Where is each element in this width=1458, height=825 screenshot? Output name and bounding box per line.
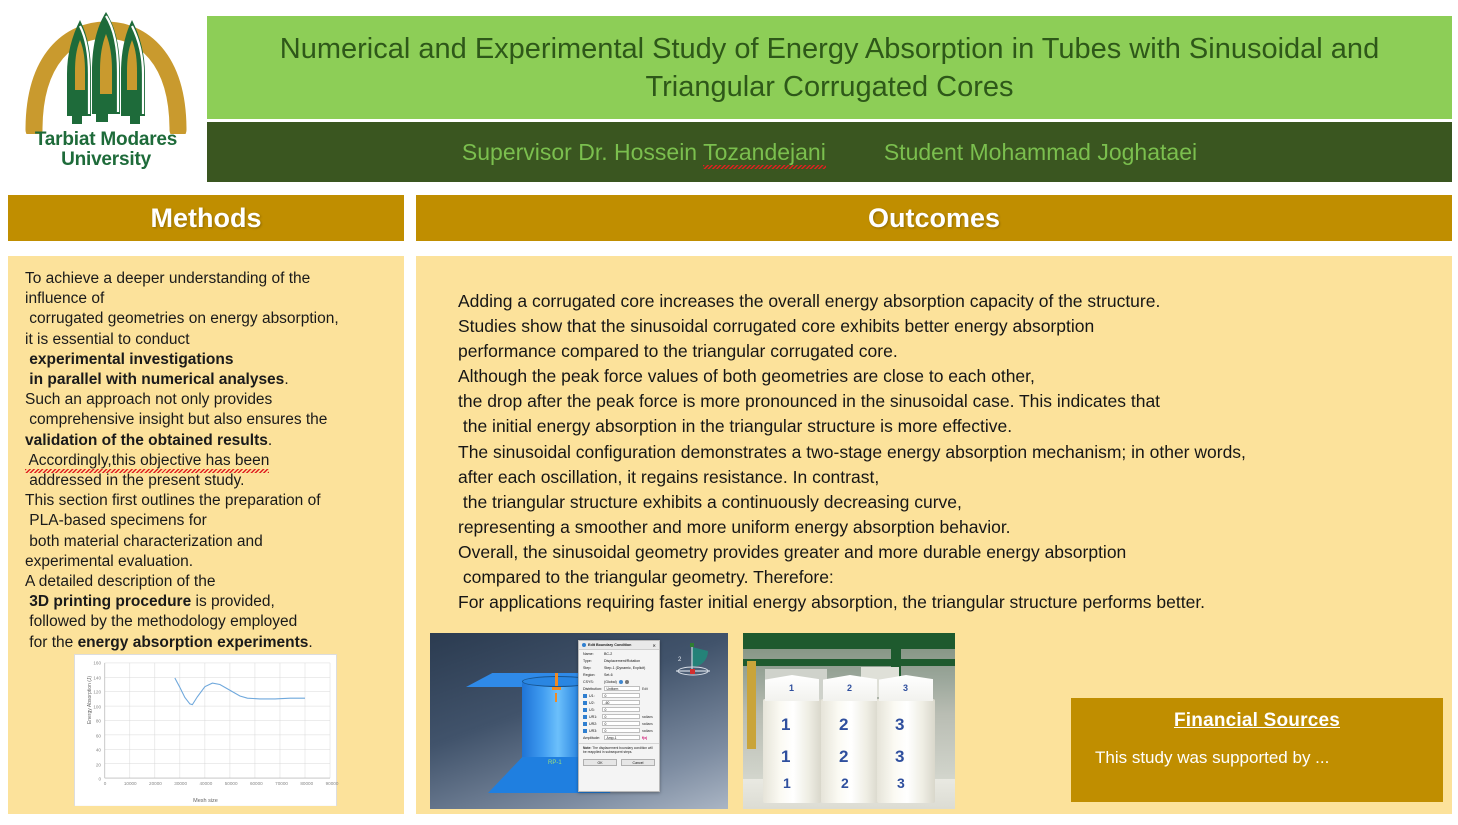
outcomes-line: compared to the triangular geometry. The… bbox=[458, 565, 1438, 590]
note-label: Note: bbox=[583, 746, 591, 750]
university-logo-icon bbox=[22, 10, 190, 134]
authors-banner: Supervisor Dr. Hossein Tozandejani Stude… bbox=[207, 122, 1452, 182]
dialog-field-row: Step:Step-1 (Dynamic, Explicit) bbox=[579, 664, 659, 671]
chart-x-tick: 60000 bbox=[250, 781, 263, 786]
university-logo-area: Tarbiat Modares University bbox=[8, 4, 204, 184]
methods-line: in parallel with numerical analyses. bbox=[25, 370, 390, 390]
field-label: Type: bbox=[583, 659, 602, 663]
methods-body-text: To achieve a deeper understanding of the… bbox=[25, 269, 390, 653]
csys-label: CSYS: bbox=[583, 680, 602, 684]
methods-panel: To achieve a deeper understanding of the… bbox=[8, 256, 404, 814]
specimen-tag-number: 1 bbox=[789, 683, 794, 693]
chart-x-tick: 50000 bbox=[225, 781, 238, 786]
supervisor-credit: Supervisor Dr. Hossein Tozandejani bbox=[462, 139, 826, 166]
csys-value: (Global) bbox=[604, 680, 617, 684]
chart-y-tick: 140 bbox=[93, 675, 101, 680]
outcomes-line: after each oscillation, it regains resis… bbox=[458, 465, 1438, 490]
supervisor-label: Supervisor Dr. Hossein bbox=[462, 139, 703, 165]
chart-y-tick: 20 bbox=[96, 762, 101, 767]
outcomes-line: Studies show that the sinusoidal corruga… bbox=[458, 314, 1438, 339]
specimen-marking: 3 bbox=[895, 747, 904, 767]
dialog-titlebar: Edit Boundary Condition ✕ bbox=[579, 641, 659, 650]
dof-label: U1: bbox=[589, 694, 600, 698]
chart-y-tick: 120 bbox=[93, 690, 101, 695]
close-icon[interactable]: ✕ bbox=[652, 643, 656, 648]
field-value: Step-1 (Dynamic, Explicit) bbox=[604, 666, 645, 670]
distribution-select[interactable]: Uniform bbox=[604, 686, 640, 691]
amplitude-label: Amplitude: bbox=[583, 736, 602, 740]
specimen-photo-figure: 111122223333 bbox=[743, 633, 955, 809]
cad-load-arrow-head bbox=[552, 687, 561, 690]
methods-line: 3D printing procedure is provided, bbox=[25, 592, 390, 612]
university-name-line2: University bbox=[8, 150, 204, 170]
dof-input[interactable]: 0 bbox=[602, 721, 640, 726]
outcomes-panel: Adding a corrugated core increases the o… bbox=[416, 256, 1452, 814]
poster-title-banner: Numerical and Experimental Study of Ener… bbox=[207, 16, 1452, 119]
methods-line: comprehensive insight but also ensures t… bbox=[25, 410, 390, 430]
financial-sources-title: Financial Sources bbox=[1071, 698, 1443, 732]
dof-label: UR1: bbox=[589, 715, 600, 719]
chart-x-tick: 10000 bbox=[124, 781, 137, 786]
photo-machine-frame-top bbox=[743, 633, 955, 649]
field-label: Region: bbox=[583, 673, 602, 677]
outcomes-line: the drop after the peak force is more pr… bbox=[458, 389, 1438, 414]
dof-input[interactable]: 0 bbox=[602, 714, 640, 719]
outcomes-line: Overall, the sinusoidal geometry provide… bbox=[458, 540, 1438, 565]
methods-line: addressed in the present study. bbox=[25, 471, 390, 491]
svg-text:2: 2 bbox=[678, 657, 682, 663]
methods-line: validation of the obtained results. bbox=[25, 431, 390, 451]
field-label: Name: bbox=[583, 652, 602, 656]
chart-x-tick: 90000 bbox=[326, 781, 339, 786]
chart-y-tick: 160 bbox=[93, 661, 101, 666]
university-name-line1: Tarbiat Modares bbox=[8, 130, 204, 150]
specimen-paper-tag: 1 bbox=[765, 675, 819, 701]
dof-checkbox[interactable] bbox=[583, 715, 587, 719]
specimen-cylinder: 333 bbox=[877, 699, 935, 803]
amplitude-row[interactable]: Amplitude: Amp-1 f(x) bbox=[579, 734, 659, 741]
dof-row[interactable]: UR1:0radians bbox=[579, 713, 659, 720]
dof-row[interactable]: U3:0 bbox=[579, 706, 659, 713]
outcomes-line: Adding a corrugated core increases the o… bbox=[458, 289, 1438, 314]
amplitude-select[interactable]: Amp-1 bbox=[604, 735, 640, 740]
field-value: BC-2 bbox=[604, 652, 612, 656]
research-poster: Tarbiat Modares University Numerical and… bbox=[0, 0, 1458, 825]
methods-line: Such an approach not only provides bbox=[25, 390, 390, 410]
student-credit: Student Mohammad Joghataei bbox=[884, 139, 1197, 166]
cad-load-arrow-shaft bbox=[555, 673, 558, 686]
financial-sources-box: Financial Sources This study was support… bbox=[1071, 698, 1443, 802]
methods-line: for the energy absorption experiments. bbox=[25, 633, 390, 653]
poster-header-band: Tarbiat Modares University Numerical and… bbox=[0, 0, 1458, 186]
cad-reference-point-label: RP-1 bbox=[548, 760, 562, 766]
dialog-field-list: Name:BC-2Type:Displacement/RotationStep:… bbox=[579, 650, 659, 678]
dof-unit: radians bbox=[642, 722, 655, 726]
csys-edit-icon[interactable] bbox=[619, 680, 623, 684]
specimen-marking: 2 bbox=[841, 775, 849, 791]
specimen-marking: 2 bbox=[839, 715, 848, 735]
dof-input[interactable]: 0 bbox=[602, 728, 640, 733]
specimen-paper-tag: 3 bbox=[879, 675, 933, 701]
dof-row[interactable]: UR3:0radians bbox=[579, 727, 659, 734]
field-value: Set-6 bbox=[604, 673, 613, 677]
chart-y-tick: 100 bbox=[93, 704, 101, 709]
methods-line: A detailed description of the bbox=[25, 572, 390, 592]
methods-line: PLA-based specimens for bbox=[25, 511, 390, 531]
dof-input[interactable]: 0 bbox=[602, 693, 640, 698]
cancel-button[interactable]: Cancel bbox=[621, 759, 655, 766]
dof-label: U3: bbox=[589, 708, 600, 712]
methods-line: To achieve a deeper understanding of the bbox=[25, 269, 390, 289]
dof-unit: radians bbox=[642, 715, 655, 719]
chart-x-tick: 20000 bbox=[149, 781, 162, 786]
abaqus-screenshot-figure: RP-1 2 Edit Boundary Condition ✕ Name:BC… bbox=[430, 633, 728, 809]
dof-row[interactable]: U2:-60 bbox=[579, 699, 659, 706]
specimen-marking: 1 bbox=[781, 747, 790, 767]
outcomes-body-text: Adding a corrugated core increases the o… bbox=[458, 289, 1438, 615]
methods-line: both material characterization and bbox=[25, 532, 390, 552]
dof-checkbox[interactable] bbox=[583, 729, 587, 733]
methods-line: it is essential to conduct bbox=[25, 330, 390, 350]
distribution-label: Distribution: bbox=[583, 687, 602, 691]
edit-boundary-condition-dialog[interactable]: Edit Boundary Condition ✕ Name:BC-2Type:… bbox=[578, 640, 660, 792]
methods-line: This section first outlines the preparat… bbox=[25, 491, 390, 511]
chart-x-tick: 80000 bbox=[300, 781, 313, 786]
supervisor-name: Tozandejani bbox=[703, 139, 826, 165]
chart-x-axis-title: Mesh size bbox=[75, 798, 336, 804]
dof-checkbox[interactable] bbox=[583, 694, 587, 698]
dialog-buttons: OK Cancel bbox=[579, 757, 659, 769]
specimen-marking: 1 bbox=[783, 775, 791, 791]
outcomes-line: the triangular structure exhibits a cont… bbox=[458, 490, 1438, 515]
specimen-marking: 1 bbox=[781, 715, 790, 735]
dof-label: UR3: bbox=[589, 729, 600, 733]
cad-view-triad-icon: 2 bbox=[666, 641, 718, 681]
chart-x-tick: 40000 bbox=[199, 781, 212, 786]
note-text: The displacement boundary condition will… bbox=[583, 746, 653, 754]
field-value: Displacement/Rotation bbox=[604, 659, 640, 663]
chart-y-tick: 80 bbox=[96, 719, 101, 724]
chart-y-tick: 40 bbox=[96, 748, 101, 753]
university-name: Tarbiat Modares University bbox=[8, 130, 204, 170]
dialog-field-row: Name:BC-2 bbox=[579, 650, 659, 657]
dof-checkbox[interactable] bbox=[583, 722, 587, 726]
dof-label: UR2: bbox=[589, 722, 600, 726]
specimen-cylinder: 222 bbox=[821, 699, 879, 803]
dof-unit: radians bbox=[642, 729, 655, 733]
page-title: Numerical and Experimental Study of Ener… bbox=[235, 30, 1424, 106]
csys-row: CSYS: (Global) bbox=[579, 678, 659, 685]
distribution-row[interactable]: Distribution: Uniform Edit bbox=[579, 685, 659, 692]
ok-button[interactable]: OK bbox=[583, 759, 617, 766]
dof-row[interactable]: U1:0 bbox=[579, 692, 659, 699]
outcomes-line: For applications requiring faster initia… bbox=[458, 590, 1438, 615]
methods-line: experimental investigations bbox=[25, 350, 390, 370]
csys-pick-icon[interactable] bbox=[625, 680, 629, 684]
chart-y-tick: 60 bbox=[96, 733, 101, 738]
field-label: Step: bbox=[583, 666, 602, 670]
methods-line: experimental evaluation. bbox=[25, 552, 390, 572]
dof-input[interactable]: 0 bbox=[602, 707, 640, 712]
outcomes-line: performance compared to the triangular c… bbox=[458, 339, 1438, 364]
dof-checkbox[interactable] bbox=[583, 701, 587, 705]
dof-label: U2: bbox=[589, 701, 600, 705]
photo-machine-frame-rail bbox=[743, 659, 955, 666]
specimen-paper-tag: 2 bbox=[823, 675, 877, 701]
dialog-note: Note: The displacement boundary conditio… bbox=[579, 743, 659, 757]
chart-x-tick: 30000 bbox=[174, 781, 187, 786]
spellcheck-text: Accordingly,this objective has been bbox=[25, 452, 269, 469]
specimen-marking: 2 bbox=[839, 747, 848, 767]
methods-line: corrugated geometries on energy absorpti… bbox=[25, 309, 390, 329]
dialog-field-row: Type:Displacement/Rotation bbox=[579, 657, 659, 664]
financial-sources-text: This study was supported by ... bbox=[1071, 732, 1443, 768]
outcomes-section-header: Outcomes bbox=[416, 195, 1452, 241]
specimen-tag-number: 2 bbox=[847, 683, 852, 693]
dialog-field-row: Region:Set-6 bbox=[579, 671, 659, 678]
methods-section-header: Methods bbox=[8, 195, 404, 241]
dialog-app-icon bbox=[582, 643, 586, 647]
dof-input[interactable]: -60 bbox=[602, 700, 640, 705]
dialog-title: Edit Boundary Condition bbox=[588, 643, 631, 647]
methods-line: Accordingly,this objective has been bbox=[25, 451, 390, 471]
outcomes-line: the initial energy absorption in the tri… bbox=[458, 414, 1438, 439]
edit-button[interactable]: Edit bbox=[642, 687, 655, 691]
chart-y-tick: 0 bbox=[98, 777, 101, 782]
dof-rows: U1:0U2:-60U3:0UR1:0radiansUR2:0radiansUR… bbox=[579, 692, 659, 734]
specimen-marking: 3 bbox=[897, 775, 905, 791]
dof-checkbox[interactable] bbox=[583, 708, 587, 712]
chart-y-axis-title: Energy Absorption (J) bbox=[87, 655, 93, 745]
methods-line: followed by the methodology employed bbox=[25, 612, 390, 632]
amplitude-curve-icon[interactable]: f(x) bbox=[642, 736, 655, 740]
outcomes-line: Although the peak force values of both g… bbox=[458, 364, 1438, 389]
outcomes-line: representing a smoother and more uniform… bbox=[458, 515, 1438, 540]
dof-row[interactable]: UR2:0radians bbox=[579, 720, 659, 727]
specimen-marking: 3 bbox=[895, 715, 904, 735]
photo-yellow-post bbox=[747, 661, 756, 749]
cad-reference-arrow bbox=[555, 693, 557, 702]
methods-line: influence of bbox=[25, 289, 390, 309]
specimen-tag-number: 3 bbox=[903, 683, 908, 693]
chart-x-tick: 70000 bbox=[275, 781, 288, 786]
mesh-convergence-chart: 160140120100806040200 010000200003000040… bbox=[74, 654, 337, 806]
specimen-cylinder: 111 bbox=[763, 699, 821, 803]
chart-x-tick: 0 bbox=[104, 781, 107, 786]
outcomes-line: The sinusoidal configuration demonstrate… bbox=[458, 440, 1438, 465]
